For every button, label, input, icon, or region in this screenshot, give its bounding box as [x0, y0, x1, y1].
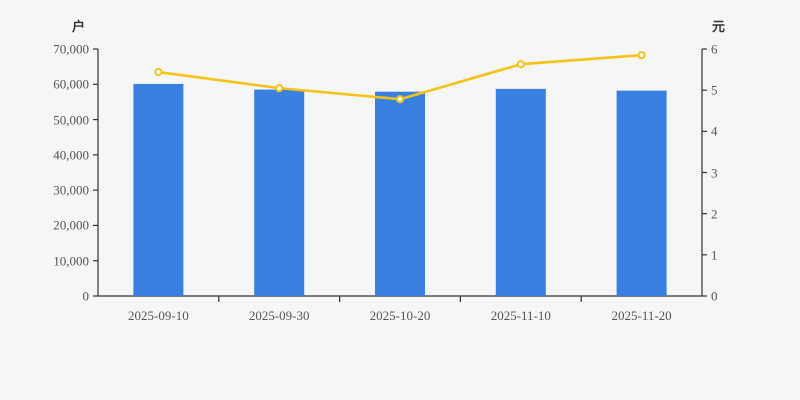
line-marker [639, 52, 645, 58]
right-axis-tick-label: 5 [711, 84, 718, 97]
chart-container: 户 元 010,00020,00030,00040,00050,00060,00… [0, 0, 800, 400]
x-axis-tick-label: 2025-09-10 [128, 309, 189, 322]
right-axis-tick-label: 4 [711, 125, 718, 138]
x-axis-tick-label: 2025-10-20 [370, 309, 431, 322]
right-axis-tick-label: 0 [711, 290, 718, 303]
right-axis-tick-label: 1 [711, 248, 718, 261]
right-axis-tick-label: 6 [711, 43, 718, 56]
plot-area [0, 0, 800, 400]
bar [496, 89, 546, 296]
line-marker [276, 85, 282, 91]
bar [375, 92, 425, 296]
bar [133, 84, 183, 296]
left-axis-tick-label: 10,000 [53, 254, 89, 267]
left-axis-tick-label: 60,000 [53, 78, 89, 91]
left-axis-tick-label: 70,000 [53, 43, 89, 56]
left-axis-tick-label: 0 [83, 290, 90, 303]
line-marker [155, 69, 161, 75]
right-axis-tick-label: 2 [711, 207, 718, 220]
x-axis-tick-label: 2025-09-30 [249, 309, 310, 322]
line-marker [518, 61, 524, 67]
left-axis-tick-label: 20,000 [53, 219, 89, 232]
left-axis-tick-label: 50,000 [53, 113, 89, 126]
right-axis-tick-label: 3 [711, 166, 718, 179]
left-axis-tick-label: 40,000 [53, 148, 89, 161]
line-marker [397, 96, 403, 102]
left-axis-tick-label: 30,000 [53, 184, 89, 197]
x-axis-tick-label: 2025-11-20 [612, 309, 672, 322]
bar [254, 90, 304, 296]
bar [617, 91, 667, 296]
x-axis-tick-label: 2025-11-10 [491, 309, 551, 322]
